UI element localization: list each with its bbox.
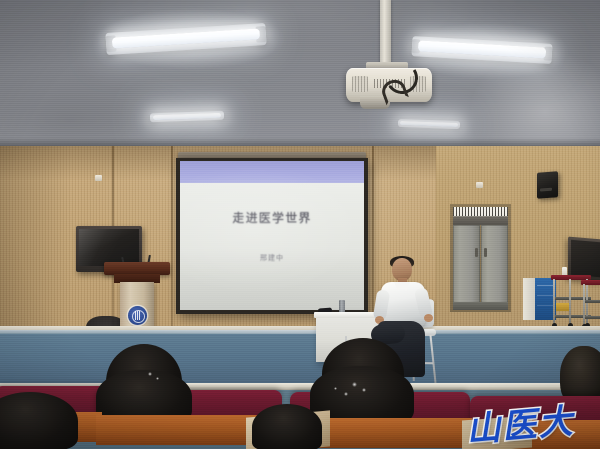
university-emblem (128, 306, 147, 325)
medical-trolley-2 (581, 280, 600, 326)
slide-subtitle: 邢建中 (180, 253, 364, 263)
door-leaf-left[interactable] (453, 225, 480, 310)
wall-sensor-left (95, 175, 102, 181)
projection-screen: 走进医学世界 邢建中 (176, 152, 368, 317)
trolley-leg-2 (569, 279, 571, 323)
trolley-leg-1 (583, 284, 585, 328)
hair-ornament-sparkle-6 (156, 377, 159, 380)
transom-louvers (453, 207, 508, 216)
hair-ornament-sparkle-4 (334, 387, 337, 390)
door-handle-left[interactable] (475, 248, 478, 257)
ceiling-mounted-projector (330, 0, 442, 118)
door-leaf-right[interactable] (481, 225, 508, 310)
shandong-medical-university-watermark: 山医大 (464, 393, 576, 449)
ceiling-texture (0, 0, 600, 150)
audience-head-lower-center (252, 404, 322, 449)
trolley-leg-1 (553, 279, 555, 323)
screen-border: 走进医学世界 邢建中 (176, 158, 368, 314)
projector-vent-left (352, 76, 368, 92)
slide-title: 走进医学世界 (180, 209, 364, 226)
hair-ornament-sparkle-2 (362, 388, 366, 392)
monitor-glare-left (79, 229, 139, 266)
projector-mount-pole (380, 0, 391, 68)
trolley-middle-shelf (583, 300, 600, 303)
slide-header-band (180, 161, 364, 183)
hair-ornament-sparkle-1 (352, 382, 357, 387)
door-kickplate (453, 302, 508, 310)
lower-wall-blue (0, 334, 600, 386)
double-door[interactable] (450, 204, 511, 312)
door-transom-window (453, 207, 508, 225)
door-handle-right[interactable] (484, 248, 487, 257)
presenter-hand-right (424, 314, 433, 322)
screen-surface: 走进医学世界 邢建中 (180, 161, 364, 310)
hair-ornament-sparkle-5 (148, 372, 152, 376)
slide-body (180, 183, 364, 310)
trolley-lower-shelf (583, 316, 600, 319)
wall-panel-seam-2 (171, 146, 173, 336)
wall-sensor-right (476, 182, 483, 188)
lecture-hall-photo: 走进医学世界 邢建中 (0, 0, 600, 449)
monitor-screen-right (571, 240, 600, 278)
wall-speaker (537, 171, 558, 198)
hair-ornament-sparkle-3 (344, 392, 348, 396)
cabinet-white-section (523, 278, 535, 320)
trolley-yellow-box (556, 303, 569, 311)
ceiling (0, 0, 600, 150)
